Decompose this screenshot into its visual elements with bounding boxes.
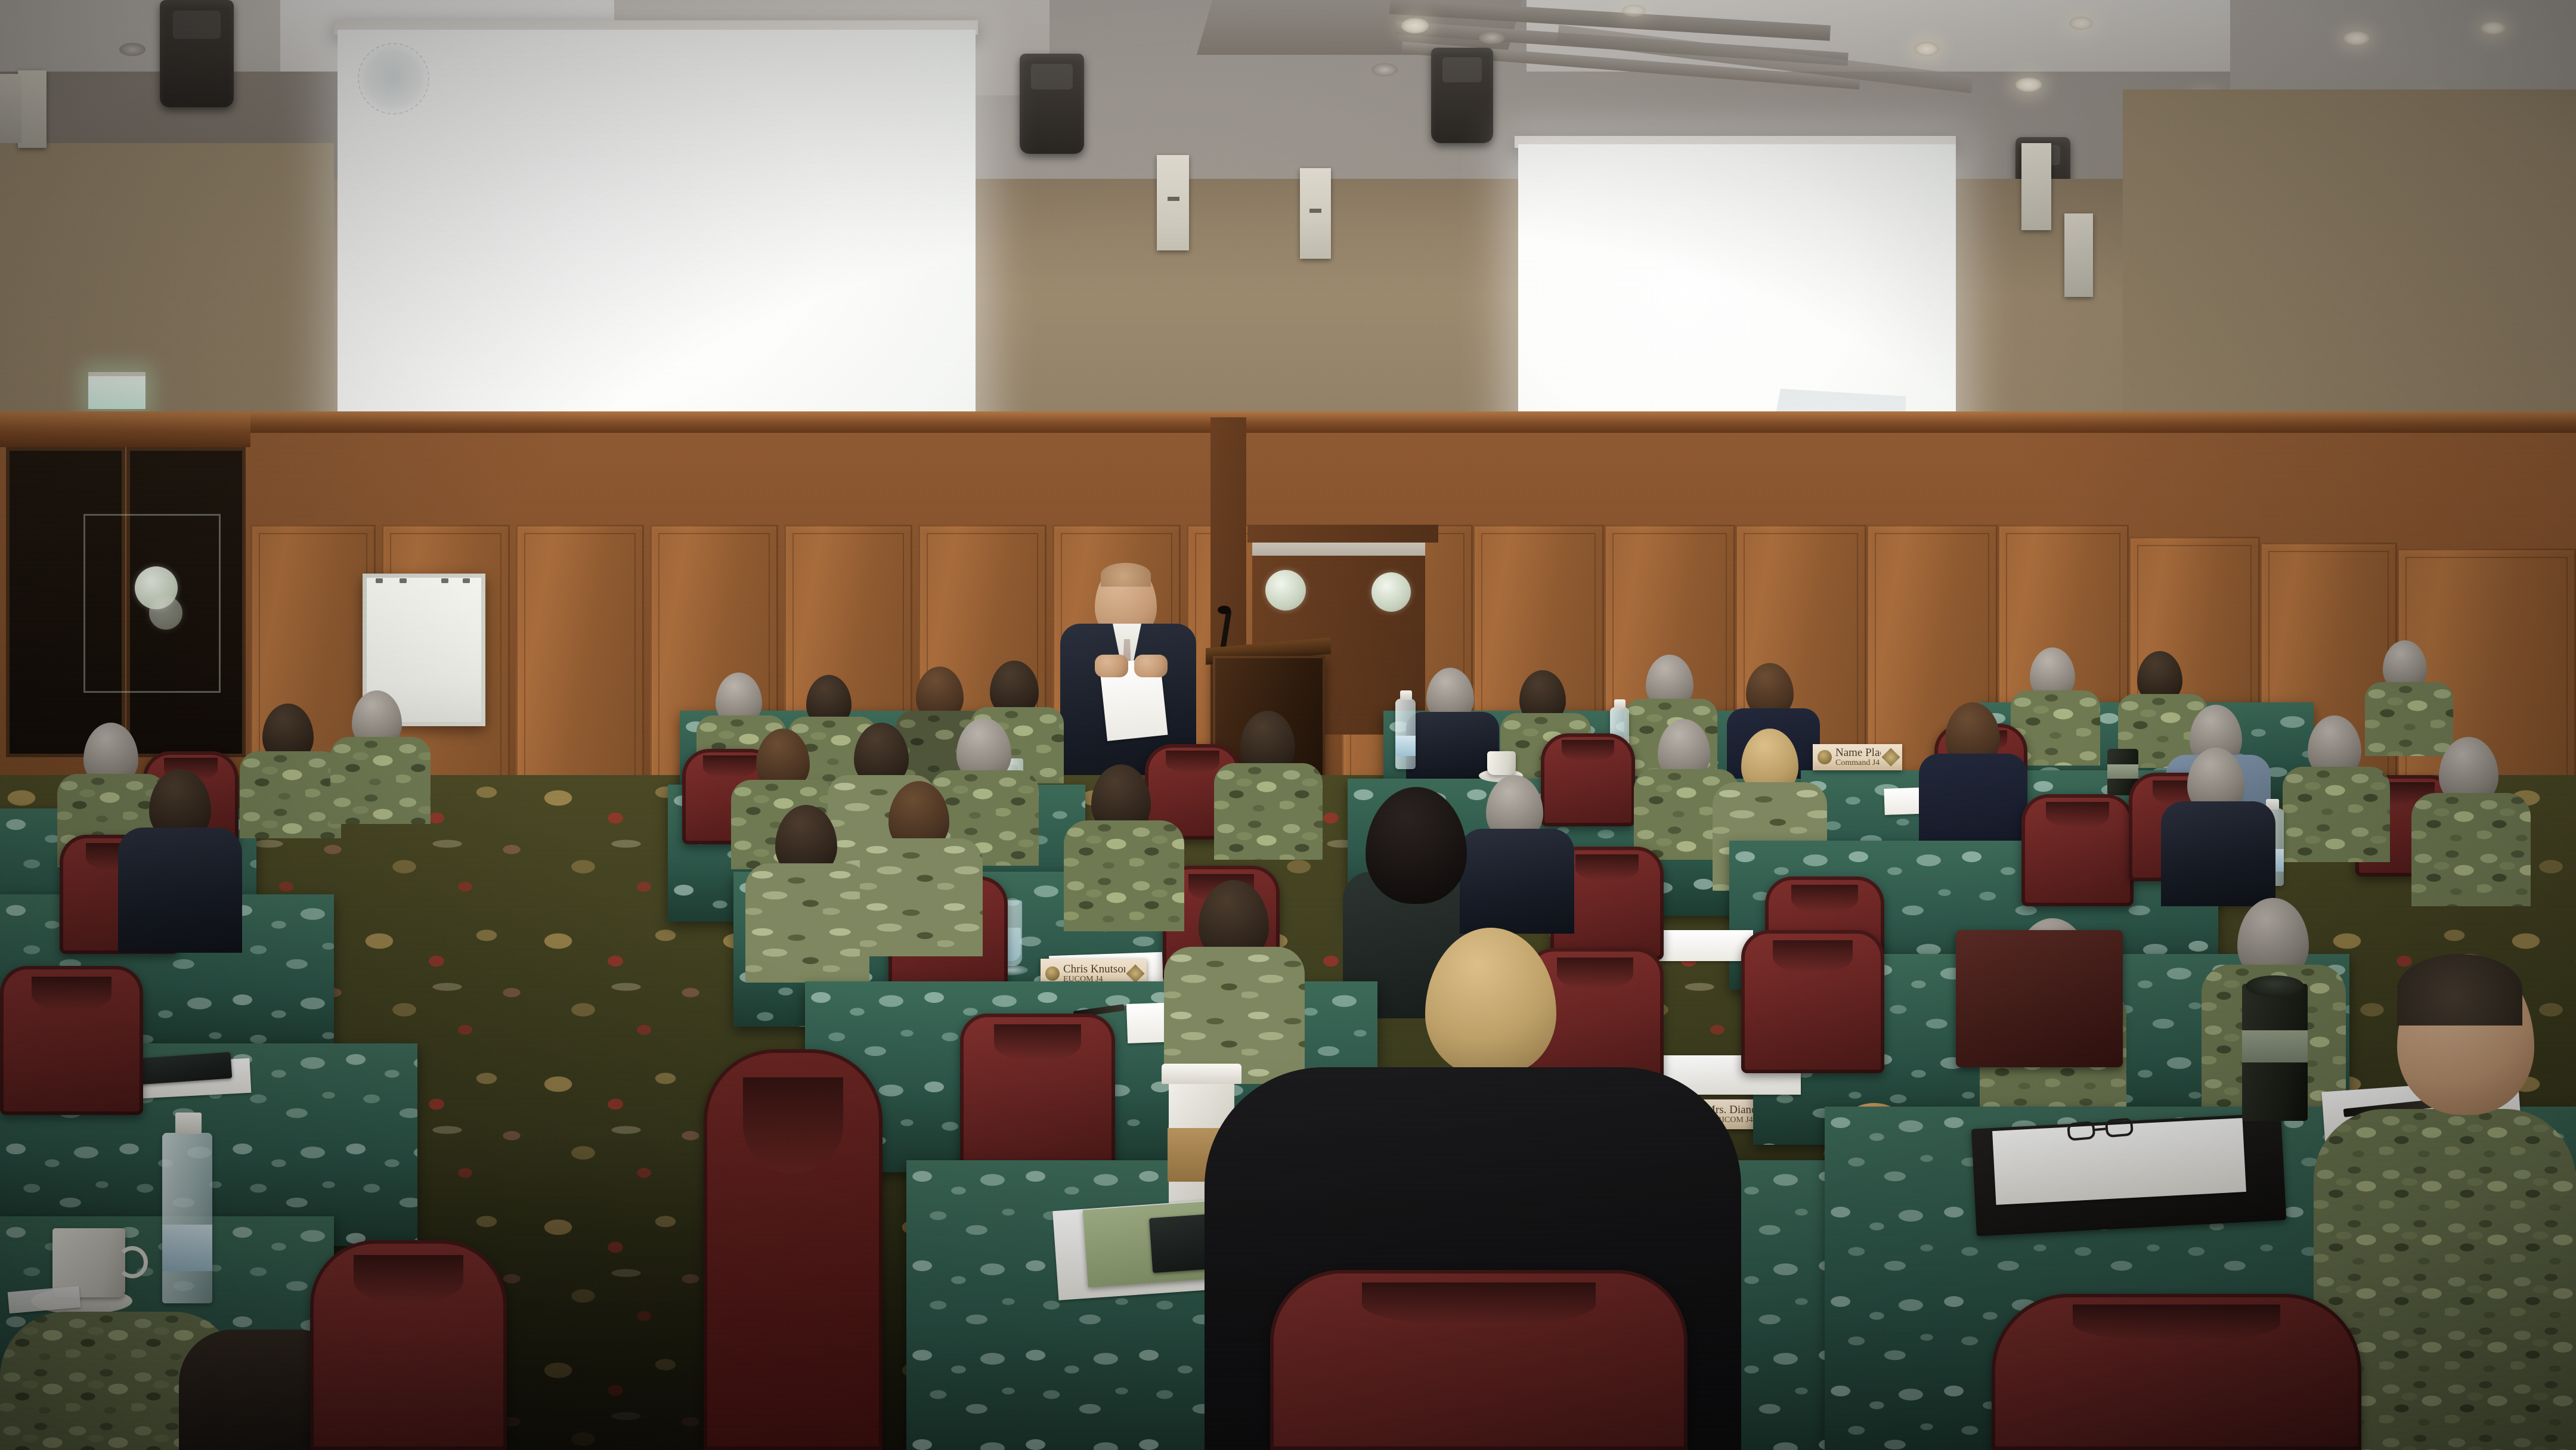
attendee-hair-foreground-right: [2397, 954, 2522, 1025]
attendee-body-r1k: [2365, 682, 2453, 756]
coffee-mug-r2b: [1487, 751, 1516, 775]
downlight-11: [119, 43, 145, 56]
placard-seal-icon: [1818, 750, 1832, 764]
porthole-window-center-a: [1265, 570, 1306, 611]
wall-chair-rail-upper: [0, 411, 2576, 434]
placard-seal-icon: [1045, 966, 1060, 981]
travel-mug-foreground: [2242, 984, 2308, 1121]
speaker-hair: [1101, 563, 1151, 587]
chair-foreground-center: [1270, 1270, 1688, 1450]
chair-r4d: [0, 966, 143, 1115]
travel-mug-lid: [2246, 975, 2304, 997]
screen-seal-emblem: [358, 43, 429, 114]
porthole-window-left-b: [149, 596, 182, 630]
chair-r4a: [960, 1014, 1115, 1169]
wall-speaker-icon-1: [1157, 155, 1189, 250]
water-bottle-r2a: [1395, 699, 1416, 769]
wall-speaker-icon-5: [18, 70, 47, 148]
placard-diamond-icon: [1881, 748, 1900, 766]
downlight-8: [2481, 21, 2506, 35]
handbag-foreground: [1956, 930, 2123, 1067]
water-bottle-foreground: [162, 1133, 212, 1303]
wall-speaker-icon-3: [2021, 143, 2051, 230]
wall-speaker-icon-4: [2064, 213, 2093, 297]
speaker-hand-left: [1095, 655, 1128, 677]
attendee-body-r2k: [240, 751, 341, 838]
speaker-hand-right: [1134, 655, 1168, 677]
ceiling-projector-icon: [160, 0, 234, 107]
placard-diamond-icon: [1126, 964, 1144, 983]
downlight-7: [2343, 31, 2370, 45]
wood-panel-l3: [516, 525, 644, 805]
attendee-body-r2i: [2283, 767, 2390, 862]
door-header-trim-left: [0, 411, 250, 447]
downlight-3: [1371, 63, 1398, 76]
ceiling-speaker-icon-center: [1431, 48, 1493, 143]
chair-foreground-right: [1992, 1294, 2361, 1450]
placard-name: Name Placard: [1835, 747, 1881, 759]
porthole-window-center-b: [1371, 572, 1411, 612]
conference-room-photo: Left projection screen Right projection …: [0, 0, 2576, 1450]
placard-r2a: Name Placard Command J4: [1813, 744, 1902, 770]
togo-cup-lid: [1162, 1064, 1241, 1084]
wall-speaker-icon-2: [1300, 168, 1331, 259]
attendee-body-r2d: [1214, 763, 1323, 860]
ceiling-speaker-icon-left: [1020, 54, 1084, 154]
wall-speaker-slot-1: [1168, 197, 1179, 201]
attendee-body-r3b: [860, 838, 983, 956]
placard-name: Chris Knutson: [1063, 963, 1125, 975]
wall-speaker-slot-2: [1309, 209, 1321, 213]
door-header-trim-center: [1247, 525, 1438, 543]
attendee-body-r3g: [2411, 793, 2531, 906]
chair-foreground-left-b: [704, 1049, 883, 1450]
attendee-body-r3a: [745, 863, 869, 983]
downlight-4: [1914, 42, 1939, 56]
attendee-body-r3h: [118, 828, 242, 953]
microphone-head-icon: [1218, 606, 1231, 614]
chair-r3e: [2021, 794, 2134, 906]
downlight-6: [2069, 17, 2093, 30]
downlight-14: [1622, 5, 1646, 17]
downlight-1: [1401, 18, 1429, 33]
chair-foreground-left: [310, 1240, 507, 1450]
attendee-body-r2g: [1919, 754, 2027, 847]
chair-r4b: [1741, 930, 1884, 1073]
downlight-2: [1479, 31, 1505, 44]
placard-org: Command J4: [1835, 759, 1881, 768]
attendee-body-r3c: [1064, 820, 1184, 931]
attendee-body-r3e: [1460, 829, 1574, 934]
exit-sign: EXIT: [88, 372, 145, 409]
wall-speaker-icon-6: [0, 74, 21, 143]
attendee-body-r2l: [330, 737, 431, 824]
chair-r2c: [1541, 733, 1635, 826]
attendee-body-r3f: [2161, 801, 2275, 906]
downlight-5: [2015, 78, 2042, 92]
